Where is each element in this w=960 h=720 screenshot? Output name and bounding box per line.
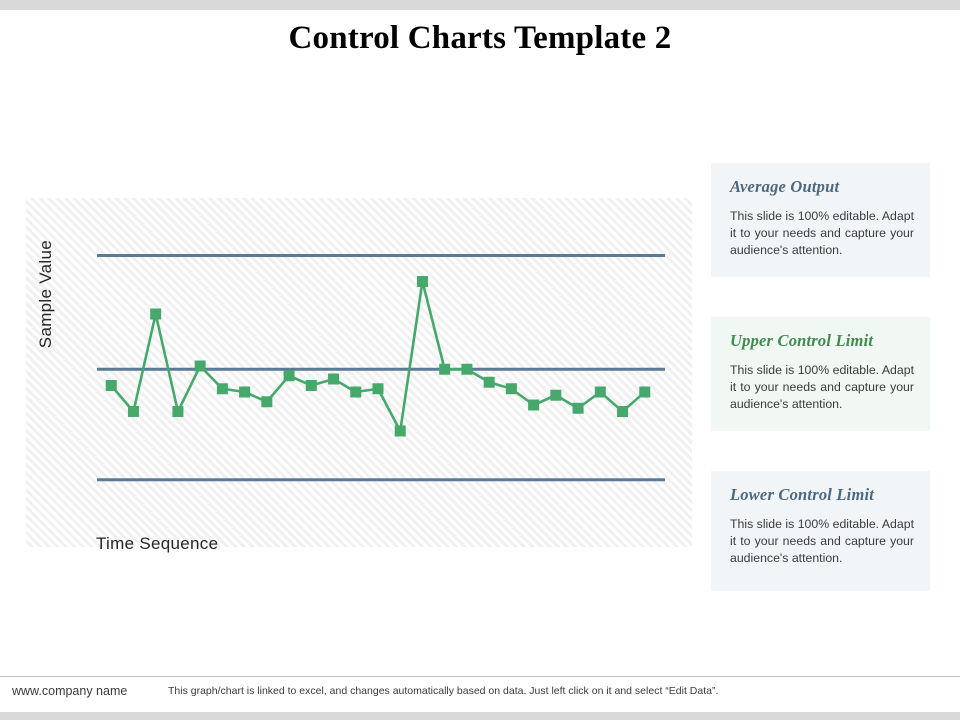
data-point-marker [617, 406, 628, 417]
page-title: Control Charts Template 2 [0, 20, 960, 57]
data-point-marker [106, 380, 117, 391]
data-point-marker [395, 426, 406, 437]
data-point-marker [239, 387, 250, 398]
series-line [111, 282, 645, 432]
info-panel-lower-control-limit[interactable]: Lower Control Limit This slide is 100% e… [711, 471, 930, 591]
panel-heading: Lower Control Limit [730, 485, 914, 505]
footer-divider [0, 676, 960, 677]
data-point-marker [306, 380, 317, 391]
panel-heading: Upper Control Limit [730, 331, 914, 351]
data-point-marker [639, 387, 650, 398]
data-point-marker [528, 400, 539, 411]
footer: www.company name This graph/chart is lin… [0, 684, 960, 708]
data-point-marker [506, 383, 517, 394]
panel-body: This slide is 100% editable. Adapt it to… [730, 208, 914, 259]
panel-body: This slide is 100% editable. Adapt it to… [730, 516, 914, 567]
data-point-marker [128, 406, 139, 417]
data-point-marker [195, 361, 206, 372]
bottom-decoration-bar [0, 712, 960, 720]
data-point-marker [261, 396, 272, 407]
data-point-marker [417, 276, 428, 287]
control-chart [26, 198, 692, 547]
top-decoration-bar [0, 0, 960, 10]
data-point-marker [284, 370, 295, 381]
data-point-marker [217, 383, 228, 394]
data-point-marker [461, 364, 472, 375]
chart-plot-svg [26, 198, 692, 547]
data-point-marker [172, 406, 183, 417]
data-point-marker [550, 390, 561, 401]
y-axis-label: Sample Value [36, 240, 56, 348]
data-point-marker [328, 374, 339, 385]
x-axis-label: Time Sequence [96, 534, 218, 554]
panel-body: This slide is 100% editable. Adapt it to… [730, 362, 914, 413]
panel-heading: Average Output [730, 177, 914, 197]
data-point-marker [439, 364, 450, 375]
info-panel-upper-control-limit[interactable]: Upper Control Limit This slide is 100% e… [711, 317, 930, 431]
footer-note: This graph/chart is linked to excel, and… [168, 685, 718, 697]
data-point-marker [350, 387, 361, 398]
data-point-marker [484, 377, 495, 388]
footer-company-name: www.company name [12, 684, 127, 698]
data-point-marker [373, 383, 384, 394]
info-panel-average-output[interactable]: Average Output This slide is 100% editab… [711, 163, 930, 277]
data-point-marker [573, 403, 584, 414]
data-point-marker [150, 309, 161, 320]
data-point-marker [595, 387, 606, 398]
